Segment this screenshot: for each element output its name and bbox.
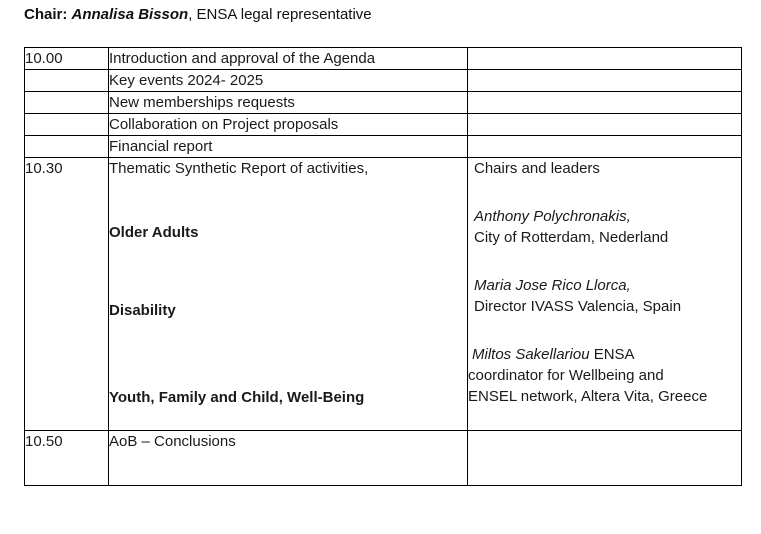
table-row: Key events 2024- 2025 xyxy=(25,70,742,92)
cell-time xyxy=(25,92,109,114)
spacer xyxy=(109,179,467,222)
document-page: Chair: Annalisa Bisson, ENSA legal repre… xyxy=(0,0,761,534)
cell-topic: Introduction and approval of the Agenda xyxy=(109,48,468,70)
thematic-report-label: Thematic Synthetic Report of activities, xyxy=(109,158,467,179)
chairs-and-leaders-label: Chairs and leaders xyxy=(468,158,741,179)
cell-topic-themes: Thematic Synthetic Report of activities,… xyxy=(109,158,468,431)
agenda-table: 10.00 Introduction and approval of the A… xyxy=(24,47,742,486)
speaker-affiliation-part3: ENSEL network, Altera Vita, Greece xyxy=(468,386,741,407)
cell-time: 10.50 xyxy=(25,431,109,486)
cell-who xyxy=(468,136,742,158)
cell-topic: AoB – Conclusions xyxy=(109,431,468,486)
cell-who-speakers: Chairs and leaders Anthony Polychronakis… xyxy=(468,158,742,431)
cell-topic: Key events 2024- 2025 xyxy=(109,70,468,92)
cell-time: 10.30 xyxy=(25,158,109,431)
speaker-miltos-sakellariou: Miltos Sakellariou ENSA coordinator for … xyxy=(468,344,741,407)
chair-line: Chair: Annalisa Bisson, ENSA legal repre… xyxy=(24,5,372,25)
theme-older-adults: Older Adults xyxy=(109,222,467,243)
chair-label: Chair: xyxy=(24,6,67,23)
table-row: Collaboration on Project proposals xyxy=(25,114,742,136)
table-row: 10.50 AoB – Conclusions xyxy=(25,431,742,486)
chair-role: , ENSA legal representative xyxy=(188,6,371,23)
speaker-affiliation: Director IVASS Valencia, Spain xyxy=(468,296,741,317)
chair-name: Annalisa Bisson xyxy=(72,6,189,23)
speaker-maria-jose-rico-llorca: Maria Jose Rico Llorca, Director IVASS V… xyxy=(468,275,741,317)
cell-topic: Collaboration on Project proposals xyxy=(109,114,468,136)
cell-time: 10.00 xyxy=(25,48,109,70)
speaker-affiliation-part1: ENSA xyxy=(590,346,635,363)
speaker-name-line: Miltos Sakellariou ENSA xyxy=(468,344,741,365)
cell-who xyxy=(468,114,742,136)
table-row: Financial report xyxy=(25,136,742,158)
cell-who xyxy=(468,48,742,70)
speaker-affiliation-part2: coordinator for Wellbeing and xyxy=(468,365,741,386)
speaker-name: Miltos Sakellariou xyxy=(472,346,590,363)
table-row-thematic: 10.30 Thematic Synthetic Report of activ… xyxy=(25,158,742,431)
cell-who xyxy=(468,70,742,92)
spacer xyxy=(109,243,467,300)
cell-topic: New memberships requests xyxy=(109,92,468,114)
theme-youth-family-child-wellbeing: Youth, Family and Child, Well-Being xyxy=(109,387,467,408)
spacer xyxy=(468,317,741,344)
cell-who xyxy=(468,92,742,114)
spacer xyxy=(468,179,741,206)
speaker-name: Anthony Polychronakis, xyxy=(468,206,741,227)
speaker-affiliation: City of Rotterdam, Nederland xyxy=(468,227,741,248)
cell-who xyxy=(468,431,742,486)
cell-topic: Financial report xyxy=(109,136,468,158)
cell-time xyxy=(25,70,109,92)
theme-disability: Disability xyxy=(109,300,467,321)
speaker-name: Maria Jose Rico Llorca, xyxy=(468,275,741,296)
table-row: New memberships requests xyxy=(25,92,742,114)
spacer xyxy=(468,248,741,275)
table-row: 10.00 Introduction and approval of the A… xyxy=(25,48,742,70)
cell-time xyxy=(25,136,109,158)
spacer xyxy=(109,321,467,387)
cell-time xyxy=(25,114,109,136)
speaker-anthony-polychronakis: Anthony Polychronakis, City of Rotterdam… xyxy=(468,206,741,248)
